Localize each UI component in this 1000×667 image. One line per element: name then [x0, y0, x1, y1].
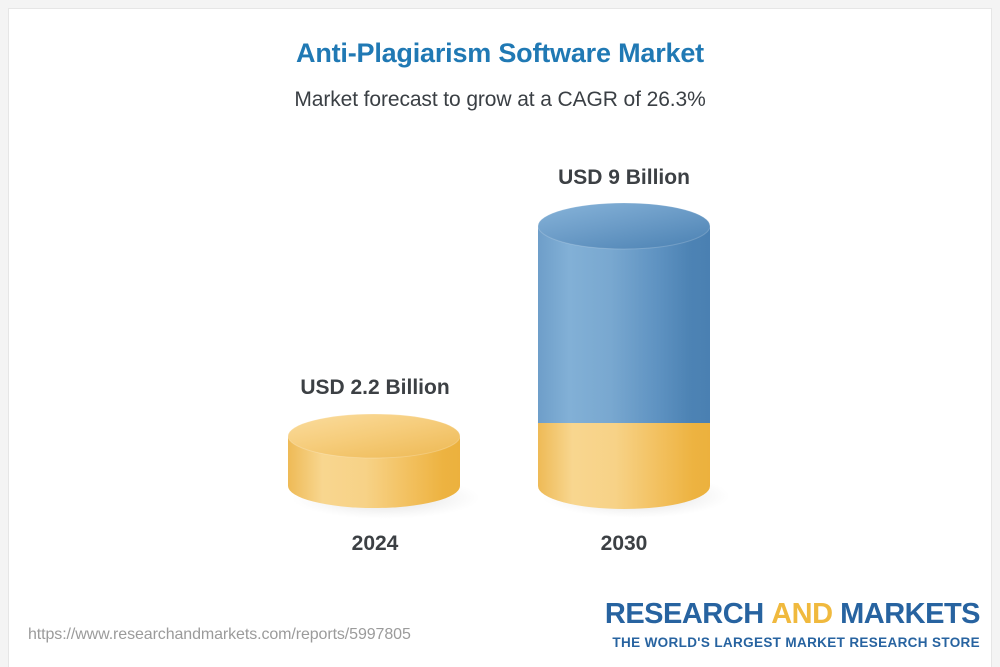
bar-cylinder-2030-graphic	[524, 198, 734, 528]
bar-cylinder-2024[interactable]	[274, 408, 486, 528]
brand-tagline: THE WORLD'S LARGEST MARKET RESEARCH STOR…	[605, 636, 980, 650]
infographic-card: Anti-Plagiarism Software Market Market f…	[0, 0, 1000, 667]
brand-word-and: AND	[771, 598, 832, 630]
bar-cylinder-2024-graphic	[274, 408, 486, 528]
chart-plot-area: USD 9 Billion USD 2.2 Billion	[0, 140, 1000, 570]
x-axis-label-2030: 2030	[489, 532, 759, 556]
brand-word-markets: MARKETS	[840, 598, 980, 630]
brand-logo-wordmark: RESEARCH AND MARKETS	[605, 600, 980, 629]
report-url[interactable]: https://www.researchandmarkets.com/repor…	[28, 626, 411, 644]
bar-cylinder-2030[interactable]	[524, 198, 734, 528]
value-label-2030: USD 9 Billion	[489, 166, 759, 190]
page-edge-top	[0, 0, 1000, 8]
page-title: Anti-Plagiarism Software Market	[0, 38, 1000, 69]
chart-subtitle: Market forecast to grow at a CAGR of 26.…	[0, 88, 1000, 112]
brand-word-research: RESEARCH	[605, 598, 764, 630]
brand-logo[interactable]: RESEARCH AND MARKETS THE WORLD'S LARGEST…	[605, 600, 980, 650]
value-label-2024: USD 2.2 Billion	[240, 376, 510, 400]
x-axis-label-2024: 2024	[240, 532, 510, 556]
